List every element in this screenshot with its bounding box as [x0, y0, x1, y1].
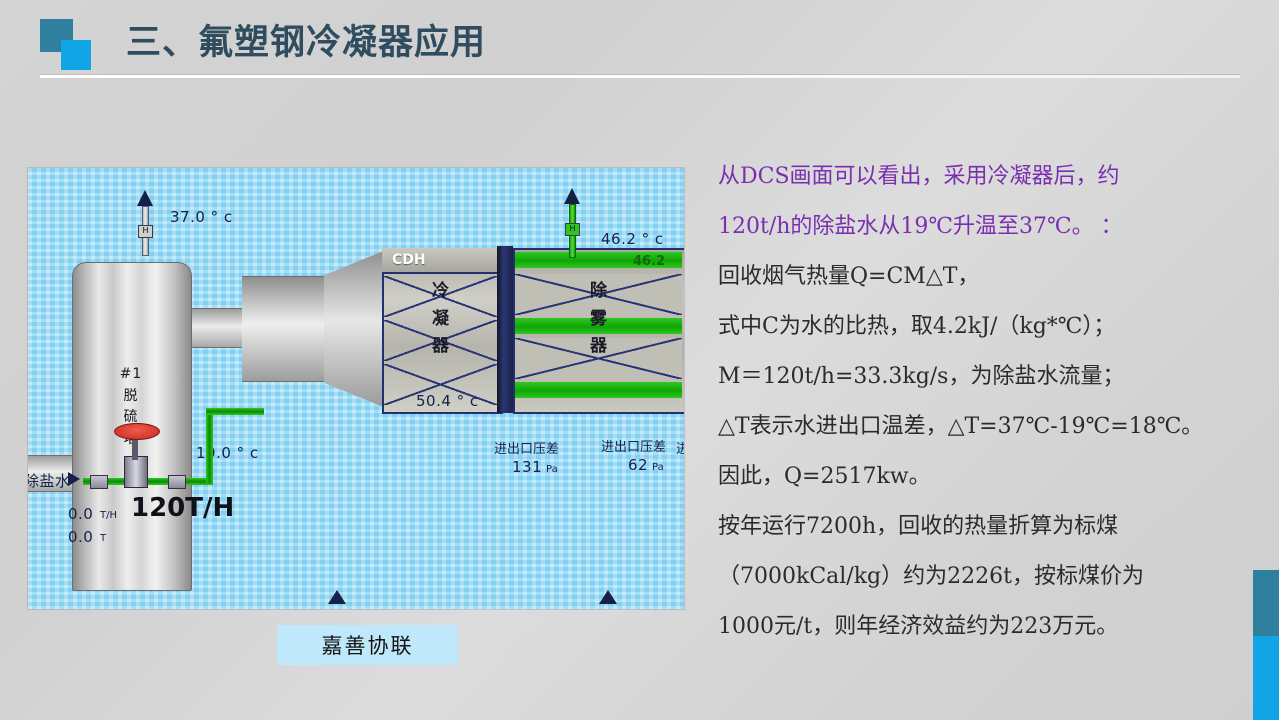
image-caption-text: 嘉善协联	[322, 630, 414, 660]
accent-bar-bright	[1253, 636, 1279, 720]
body-line-7: 因此，Q=2517kw。	[718, 452, 1263, 502]
water-isolation-valve-2-icon[interactable]	[168, 475, 186, 489]
body-line-9: （7000kCal/kg）约为2226t，按标煤价为	[718, 552, 1263, 602]
condenser-outlet-valve-icon[interactable]: H	[138, 225, 153, 238]
water-flow-rate-value: 120T/H	[131, 493, 234, 523]
body-line-1: 从DCS画面可以看出，采用冷凝器后，约	[718, 152, 1263, 202]
pressure-drop-label-2: 进出口压差	[601, 436, 666, 455]
demister-green-band-3	[515, 382, 682, 398]
image-caption-box: 嘉善协联	[277, 625, 458, 665]
water-total-zero-value: 0.0	[68, 528, 93, 546]
cdh-label: CDH	[392, 252, 426, 268]
pressure-drop-unit-2: Pa	[652, 462, 664, 473]
body-line-6: △T表示水进出口温差，△T=37℃-19℃=18℃。	[718, 402, 1263, 452]
demister-char-2: 雾	[513, 306, 684, 334]
water-riser-pipe	[206, 408, 213, 483]
title-divider	[40, 74, 1240, 78]
body-line-3: 回收烟气热量Q=CM△T，	[718, 252, 1263, 302]
demister-label: 除 雾 器	[513, 278, 684, 361]
water-total-zero-unit: T	[100, 533, 106, 544]
body-line-10: 1000元/t，则年经济效益约为223万元。	[718, 602, 1263, 652]
accent-bar-dark	[1253, 570, 1279, 636]
demister-char-3: 器	[513, 333, 684, 361]
tower-tag: #1	[72, 364, 190, 386]
flue-gas-duct-flare	[324, 250, 386, 408]
water-inlet-label: 除盐水	[28, 470, 71, 491]
body-line-4: 式中C为水的比热，取4.2kJ/（kg*℃）；	[718, 302, 1263, 352]
demister-outlet-valve-icon[interactable]: H	[565, 223, 580, 236]
condenser-outlet-arrow-icon	[137, 190, 153, 206]
bottom-arrow-1-icon	[328, 590, 346, 604]
water-flow-zero-value: 0.0	[68, 505, 93, 523]
decoration-square-bright-icon	[61, 40, 91, 70]
condenser-char-1: 冷	[382, 278, 499, 306]
condenser-char-2: 凝	[382, 306, 499, 334]
body-line-5: M＝120t/h=33.3kg/s，为除盐水流量；	[718, 352, 1263, 402]
pressure-drop-label-3: 进	[676, 438, 684, 457]
pressure-drop-unit-1: Pa	[546, 464, 558, 475]
bottom-arrow-2-icon	[599, 590, 617, 604]
control-valve-body-icon[interactable]	[124, 456, 148, 488]
page-title: 三、氟塑钢冷凝器应用	[126, 14, 486, 65]
demister-band-value: 46.2	[633, 254, 665, 269]
pressure-drop-label-1: 进出口压差	[494, 438, 559, 457]
condenser-char-3: 器	[382, 333, 499, 361]
control-valve-actuator-icon[interactable]	[114, 423, 160, 440]
condenser-inlet-temp: 50.4 ° c	[416, 392, 479, 410]
flue-gas-duct	[242, 276, 327, 382]
body-line-8: 按年运行7200h，回收的热量折算为标煤	[718, 502, 1263, 552]
body-line-2: 120t/h的除盐水从19℃升温至37℃。 ：	[718, 202, 1263, 252]
pressure-drop-value-2: 62	[628, 456, 648, 474]
condenser-label: 冷 凝 器	[382, 278, 499, 361]
water-isolation-valve-1-icon[interactable]	[90, 475, 108, 489]
condenser-outlet-temp: 37.0 ° c	[170, 208, 233, 226]
water-flow-zero-unit: T/H	[100, 510, 117, 521]
slide-header: 三、氟塑钢冷凝器应用	[0, 0, 1279, 90]
demister-char-1: 除	[513, 278, 684, 306]
water-header-pipe	[206, 408, 264, 415]
tower-outlet-nozzle	[188, 308, 248, 348]
unit-divider-pillar	[497, 246, 513, 413]
demister-outlet-arrow-icon	[564, 188, 580, 204]
demister-outlet-temp: 46.2 ° c	[601, 230, 664, 248]
dcs-screenshot-image: #1 脱 硫 塔 CDH 冷 凝 器 除 雾 器 46.2 H 37.0 ° c…	[28, 168, 684, 609]
pressure-drop-value-1: 131	[512, 458, 542, 476]
tower-name-char-1: 脱	[72, 386, 190, 408]
body-text-panel: 从DCS画面可以看出，采用冷凝器后，约120t/h的除盐水从19℃升温至37℃。…	[718, 152, 1263, 652]
